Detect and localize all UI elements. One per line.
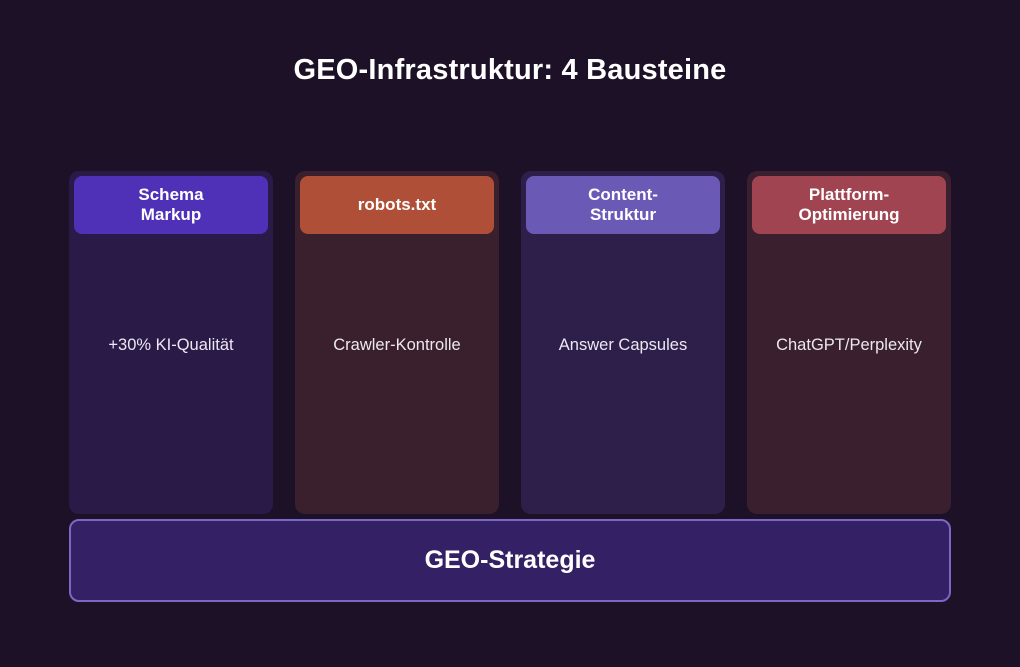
card-header-1-line1: Schema xyxy=(138,185,203,205)
card-header-4: Plattform- Optimierung xyxy=(752,176,946,234)
card-header-4-line2: Optimierung xyxy=(798,205,899,225)
card-header-3: Content- Struktur xyxy=(526,176,720,234)
card-header-1: Schema Markup xyxy=(74,176,268,234)
building-block-card-4[interactable]: Plattform- Optimierung ChatGPT/Perplexit… xyxy=(747,171,951,514)
card-header-1-line2: Markup xyxy=(138,205,203,225)
card-header-3-line2: Struktur xyxy=(588,205,658,225)
card-body-3: Answer Capsules xyxy=(521,234,725,514)
card-body-4: ChatGPT/Perplexity xyxy=(747,234,951,514)
card-header-2: robots.txt xyxy=(300,176,494,234)
building-blocks-row: Schema Markup +30% KI-Qualität robots.tx… xyxy=(69,171,951,514)
card-header-3-line1: Content- xyxy=(588,185,658,205)
card-body-2: Crawler-Kontrolle xyxy=(295,234,499,514)
building-block-card-3[interactable]: Content- Struktur Answer Capsules xyxy=(521,171,725,514)
strategy-summary-bar[interactable]: GEO-Strategie xyxy=(69,519,951,602)
card-body-1: +30% KI-Qualität xyxy=(69,234,273,514)
card-header-2-line1: robots.txt xyxy=(358,195,436,215)
strategy-summary-label: GEO-Strategie xyxy=(425,546,596,575)
diagram-canvas: GEO-Infrastruktur: 4 Bausteine Schema Ma… xyxy=(0,0,1020,667)
building-block-card-2[interactable]: robots.txt Crawler-Kontrolle xyxy=(295,171,499,514)
building-block-card-1[interactable]: Schema Markup +30% KI-Qualität xyxy=(69,171,273,514)
page-title: GEO-Infrastruktur: 4 Bausteine xyxy=(0,54,1020,87)
card-header-4-line1: Plattform- xyxy=(798,185,899,205)
